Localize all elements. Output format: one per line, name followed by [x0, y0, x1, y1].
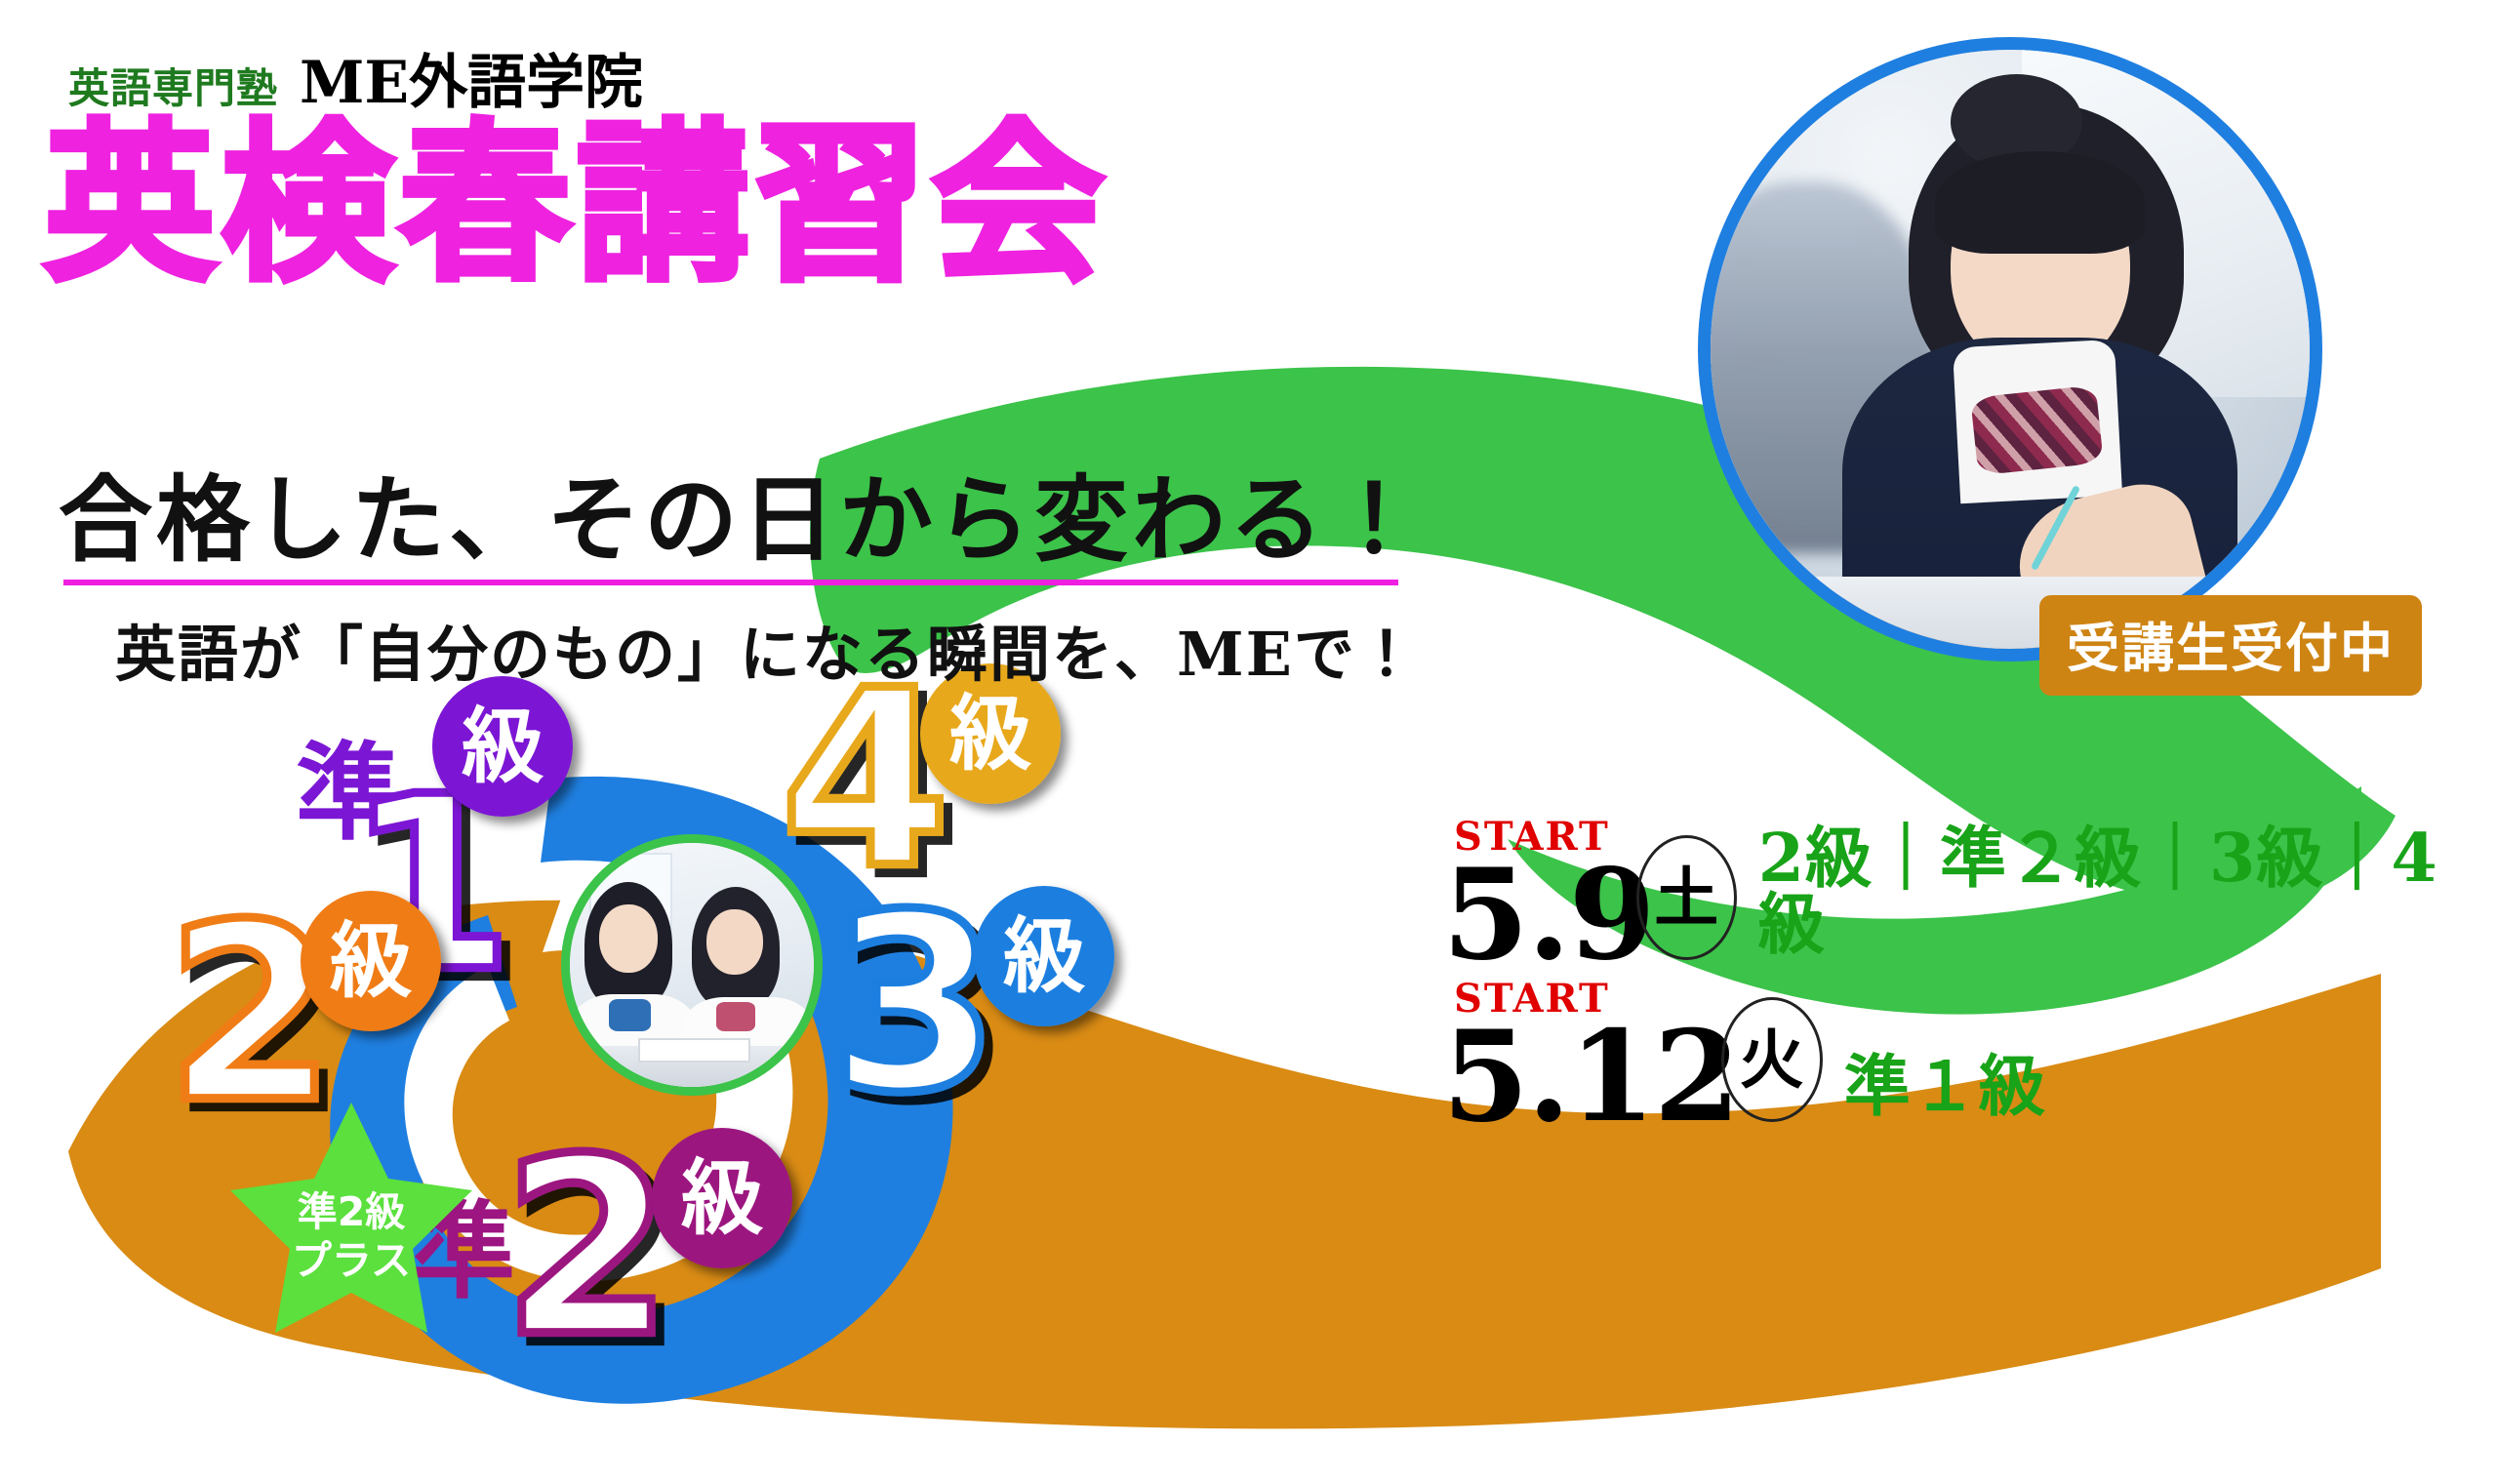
grade-number-jun-2: 2: [503, 1106, 672, 1390]
tagline: 合格した、その日から変わる！: [59, 444, 1425, 580]
star-badge-line2: プラス: [292, 1237, 411, 1284]
grade-badge-label-jun-2: 級: [681, 1150, 764, 1246]
grade-badge-label-2: 級: [330, 913, 413, 1009]
schedule-row: START 5.12 火 準１級: [1442, 980, 2498, 1136]
grade-item-3-kyu: 3 級: [829, 862, 1114, 1146]
weekday-circle: 火: [1721, 997, 1823, 1122]
grade-number-2: 2: [166, 872, 336, 1156]
start-date: 5.12: [1442, 1021, 1739, 1136]
promo-banner: 英語専門塾 ME外語学院 英検春講習会 合格した、その日から変わる！ 英語が「自…: [0, 0, 2498, 1484]
grade-badge-label-3: 級: [1003, 908, 1086, 1004]
grade-badge-label-jun-1: 級: [462, 699, 544, 794]
schedule-grades: 準１級: [1844, 1054, 2046, 1120]
subtagline: 英語が「自分のもの」になる瞬間を、MEで！: [115, 605, 1419, 693]
grade-badge-label-4: 級: [949, 686, 1032, 782]
grade-number-3: 3: [829, 862, 999, 1146]
page-title: 英検春講習会: [44, 117, 1109, 293]
schedule-grades: 2級｜準２級｜3級｜4級: [1758, 825, 2498, 958]
status-badge: 受講生受付中: [2039, 595, 2422, 696]
star-badge-line1: 準2級: [298, 1188, 407, 1235]
schedule-row: START 5.9 土 2級｜準２級｜3級｜4級: [1442, 818, 2498, 974]
weekday-circle: 土: [1636, 835, 1737, 960]
hero-student-photo: [1698, 37, 2322, 662]
schedule-list: START 5.9 土 2級｜準２級｜3級｜4級 START 5.12 火 準１…: [1442, 818, 2498, 1142]
tagline-underline: [63, 580, 1398, 585]
ring-center-photo: [561, 834, 823, 1096]
weekday-label: 火: [1740, 1027, 1804, 1092]
weekday-label: 土: [1654, 865, 1718, 930]
start-date: 5.9: [1442, 859, 1654, 974]
